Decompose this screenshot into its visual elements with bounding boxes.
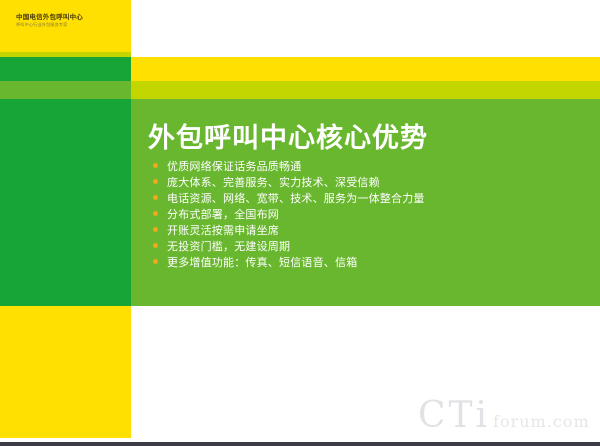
bullet-dot-icon — [153, 195, 158, 200]
brand-logo-title: 中国电信外包呼叫中心 — [16, 14, 126, 21]
list-item: 庞大体系、完善服务、实力技术、深受信赖 — [153, 174, 583, 189]
list-item-label: 开账灵活按需申请坐席 — [167, 222, 279, 238]
right-top-white-area — [131, 0, 600, 57]
list-item-label: 更多增值功能：传真、短信语音、信箱 — [167, 254, 357, 270]
presentation-slide: 中国电信外包呼叫中心 呼叫中心行业外包服务专家 外包呼叫中心核心优势 优质网络保… — [0, 0, 600, 446]
brand-logo-subtitle: 呼叫中心行业外包服务专家 — [16, 23, 126, 27]
bottom-right-white-area — [131, 306, 600, 443]
bullet-dot-icon — [153, 243, 158, 248]
list-item: 无投资门槛，无建设周期 — [153, 238, 583, 253]
bullet-dot-icon — [153, 227, 158, 232]
right-yellow-band — [131, 57, 600, 81]
right-lime-band — [131, 81, 600, 99]
left-mid-green-band — [0, 81, 131, 99]
list-item: 优质网络保证话务品质畅通 — [153, 158, 583, 173]
left-dark-green-column — [0, 99, 131, 306]
list-item-label: 优质网络保证话务品质畅通 — [167, 158, 301, 174]
bullet-dot-icon — [153, 163, 158, 168]
list-item: 电话资源、网络、宽带、技术、服务为一体整合力量 — [153, 190, 583, 205]
slide-title: 外包呼叫中心核心优势 — [148, 116, 428, 155]
list-item: 分布式部署，全国布网 — [153, 206, 583, 221]
list-item-label: 电话资源、网络、宽带、技术、服务为一体整合力量 — [167, 190, 425, 206]
list-item-label: 无投资门槛，无建设周期 — [167, 238, 290, 254]
bullet-dot-icon — [153, 259, 158, 264]
list-item-label: 分布式部署，全国布网 — [167, 206, 279, 222]
list-item-label: 庞大体系、完善服务、实力技术、深受信赖 — [167, 174, 380, 190]
bottom-divider-rule — [0, 442, 600, 446]
bullet-dot-icon — [153, 179, 158, 184]
brand-logo: 中国电信外包呼叫中心 呼叫中心行业外包服务专家 — [16, 14, 126, 27]
left-dark-green-band-upper — [0, 57, 131, 81]
bullet-dot-icon — [153, 211, 158, 216]
advantages-list: 优质网络保证话务品质畅通 庞大体系、完善服务、实力技术、深受信赖 电话资源、网络… — [153, 158, 583, 270]
list-item: 开账灵活按需申请坐席 — [153, 222, 583, 237]
bottom-left-yellow-block — [0, 306, 131, 438]
list-item: 更多增值功能：传真、短信语音、信箱 — [153, 254, 583, 269]
